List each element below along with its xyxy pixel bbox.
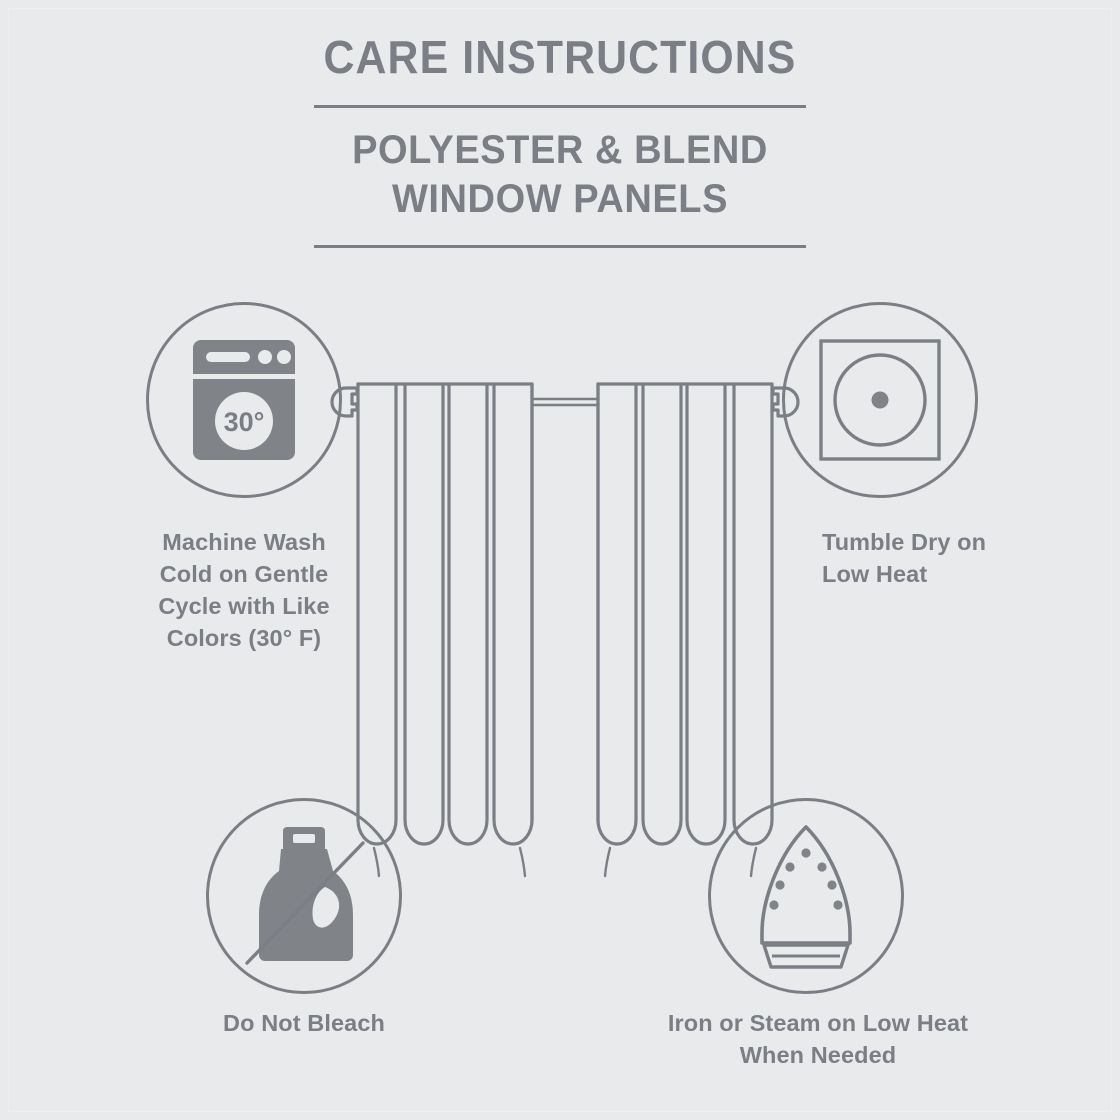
- subtitle-line-1: POLYESTER & BLEND: [28, 126, 1092, 175]
- do-not-bleach-icon: [206, 798, 402, 994]
- caption-tumble-dry: Tumble Dry on Low Heat: [822, 527, 1082, 591]
- bleach-bottle-svg: [239, 821, 369, 971]
- subtitle-divider: [314, 245, 806, 248]
- symbol-tumble-dry: [782, 302, 978, 498]
- page-subtitle: POLYESTER & BLEND WINDOW PANELS: [28, 126, 1092, 224]
- symbol-iron-low: [708, 798, 904, 994]
- header: CARE INSTRUCTIONS POLYESTER & BLEND WIND…: [0, 34, 1120, 248]
- tumble-dry-low-icon: [782, 302, 978, 498]
- washing-machine-svg: 30°: [189, 336, 299, 464]
- caption-iron-low: Iron or Steam on Low Heat When Needed: [618, 1008, 1018, 1072]
- washing-machine-icon: 30°: [146, 302, 342, 498]
- caption-do-not-bleach: Do Not Bleach: [154, 1008, 454, 1040]
- wash-temperature-label: 30°: [224, 407, 265, 437]
- iron-steam-icon: [708, 798, 904, 994]
- symbol-machine-wash: 30°: [146, 302, 342, 498]
- page-title: CARE INSTRUCTIONS: [39, 34, 1081, 82]
- title-divider: [314, 105, 806, 108]
- symbol-do-not-bleach: [206, 798, 402, 994]
- subtitle-line-2: WINDOW PANELS: [28, 175, 1092, 224]
- tumble-dry-svg: [817, 337, 943, 463]
- curtain-rod: [532, 399, 598, 405]
- iron-soleplate-svg: [750, 821, 862, 971]
- care-instructions-card: CARE INSTRUCTIONS POLYESTER & BLEND WIND…: [0, 0, 1120, 1120]
- caption-machine-wash: Machine Wash Cold on Gentle Cycle with L…: [86, 527, 402, 655]
